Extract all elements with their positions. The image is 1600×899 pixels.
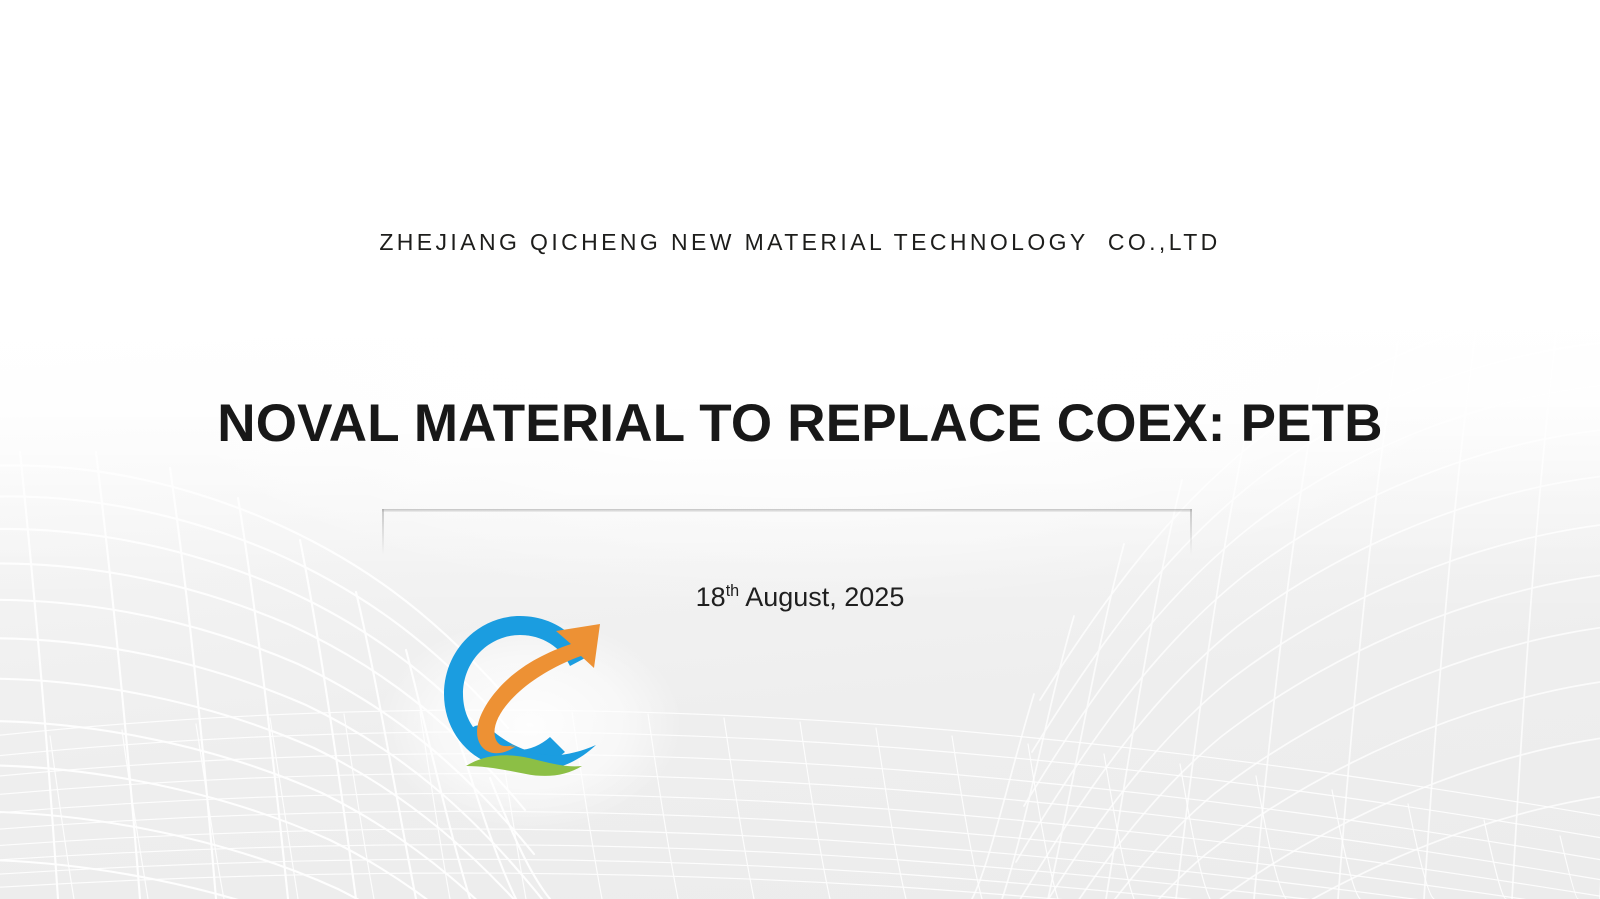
frame-right-edge — [1190, 509, 1192, 555]
date-day: 18 — [696, 582, 726, 612]
presentation-date: 18th August, 2025 — [0, 582, 1600, 613]
company-name: ZHEJIANG QICHENG NEW MATERIAL TECHNOLOGY… — [0, 229, 1600, 256]
date-rest: August, 2025 — [739, 582, 904, 612]
page-title: NOVAL MATERIAL TO REPLACE COEX: PETB — [200, 388, 1400, 460]
subtitle-placeholder-frame — [382, 509, 1192, 557]
title-slide: ZHEJIANG QICHENG NEW MATERIAL TECHNOLOGY… — [0, 0, 1600, 899]
frame-top-edge — [382, 509, 1192, 512]
date-ordinal-suffix: th — [726, 582, 740, 600]
qicheng-logo — [424, 606, 610, 781]
frame-left-edge — [382, 509, 384, 555]
